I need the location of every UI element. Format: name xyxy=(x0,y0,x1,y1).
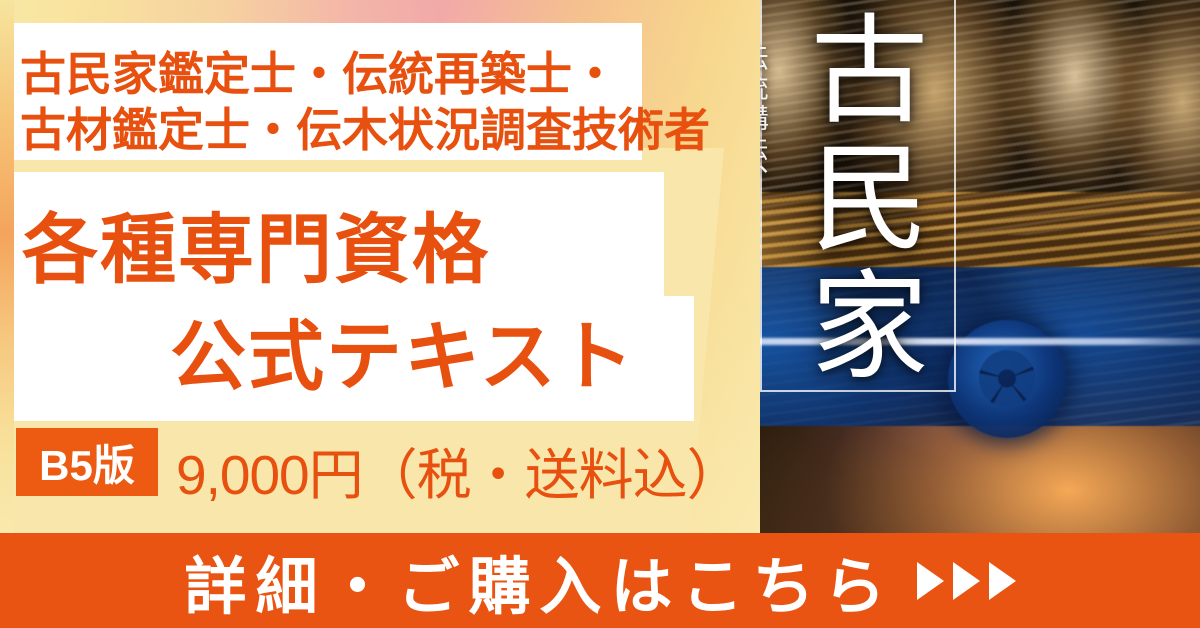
headline-line-2: 古材鑑定士・伝木状況調査技術者 xyxy=(20,94,710,160)
product-title-line-2: 公式テキスト xyxy=(170,295,636,405)
product-title-line-1: 各種専門資格 xyxy=(22,188,490,298)
chevron-right-icon xyxy=(989,562,1016,600)
book-cover-title: 古民家 xyxy=(792,8,922,392)
format-badge: B5版 xyxy=(16,428,158,496)
price-text: 9,000円（税・送料込） xyxy=(176,430,741,510)
left-gradient-rail xyxy=(0,0,14,533)
promo-banner: 古民家 伝統構法、 古民家活用のための調査と再生の 古民家鑑定士・伝統再築士・ … xyxy=(0,0,1200,628)
cta-arrow-group xyxy=(917,562,1016,600)
cta-label: 詳細・ご購入はこちら xyxy=(184,536,894,626)
chevron-right-icon xyxy=(917,562,944,600)
cta-bar[interactable]: 詳細・ご購入はこちら xyxy=(0,533,1200,628)
chevron-right-icon xyxy=(953,562,980,600)
